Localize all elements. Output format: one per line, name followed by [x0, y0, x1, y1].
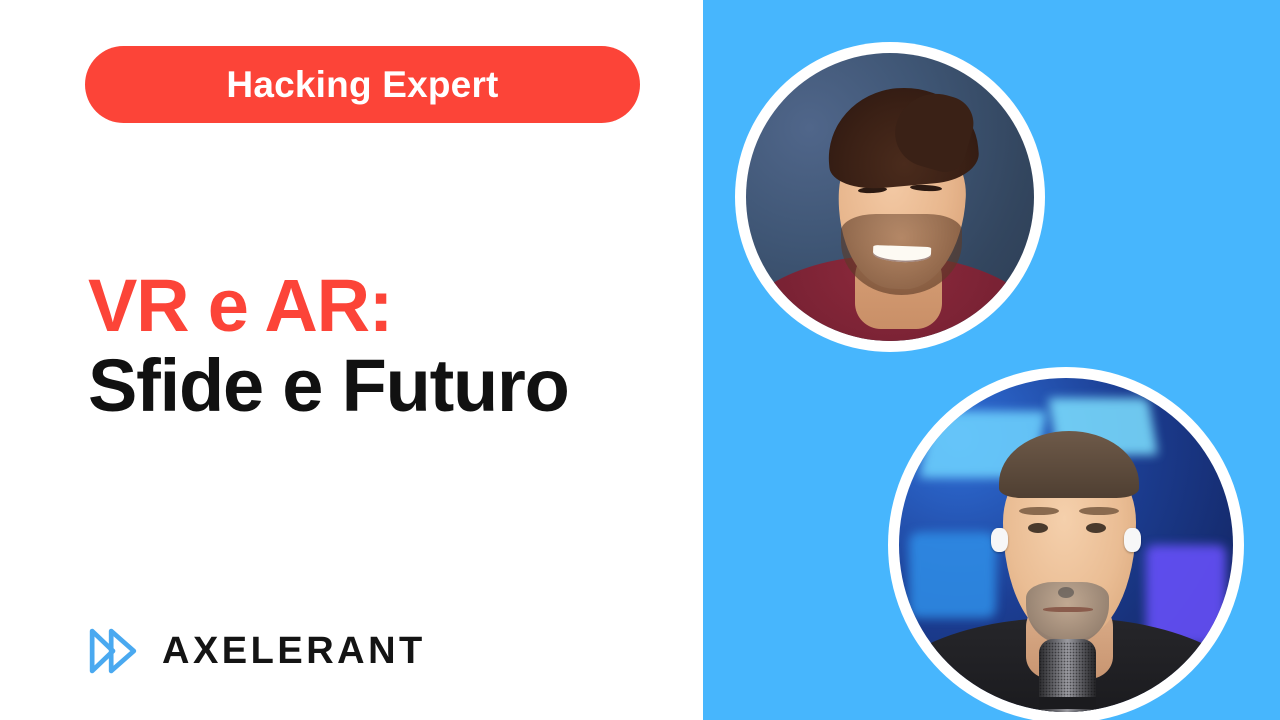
brand-wordmark: AXELERANT	[162, 632, 426, 670]
speaker-portrait-bottom-image	[899, 378, 1233, 712]
portrait-bottom-mouth	[1043, 607, 1093, 612]
category-badge[interactable]: Hacking Expert	[85, 46, 640, 123]
brand-logo[interactable]: AXELERANT	[84, 622, 426, 680]
portrait-bottom-earbud-left	[991, 528, 1008, 551]
double-chevron-play-icon	[84, 622, 142, 680]
portrait-bottom-earbud-right	[1124, 528, 1141, 551]
portrait-bottom-microphone-grill	[1039, 642, 1096, 702]
title-line-accent: VR e AR:	[88, 266, 688, 346]
speaker-portrait-top	[735, 42, 1045, 352]
speaker-portrait-top-image	[746, 53, 1034, 341]
portrait-bottom-microphone-band	[1039, 697, 1096, 709]
speaker-portrait-bottom	[888, 367, 1244, 720]
presentation-slide: Hacking Expert VR e AR: Sfide e Futuro A…	[0, 0, 1280, 720]
portrait-bottom-light-3	[909, 532, 996, 619]
category-badge-label: Hacking Expert	[226, 66, 498, 103]
title-line-main: Sfide e Futuro	[88, 346, 688, 426]
page-title: VR e AR: Sfide e Futuro	[88, 266, 688, 426]
